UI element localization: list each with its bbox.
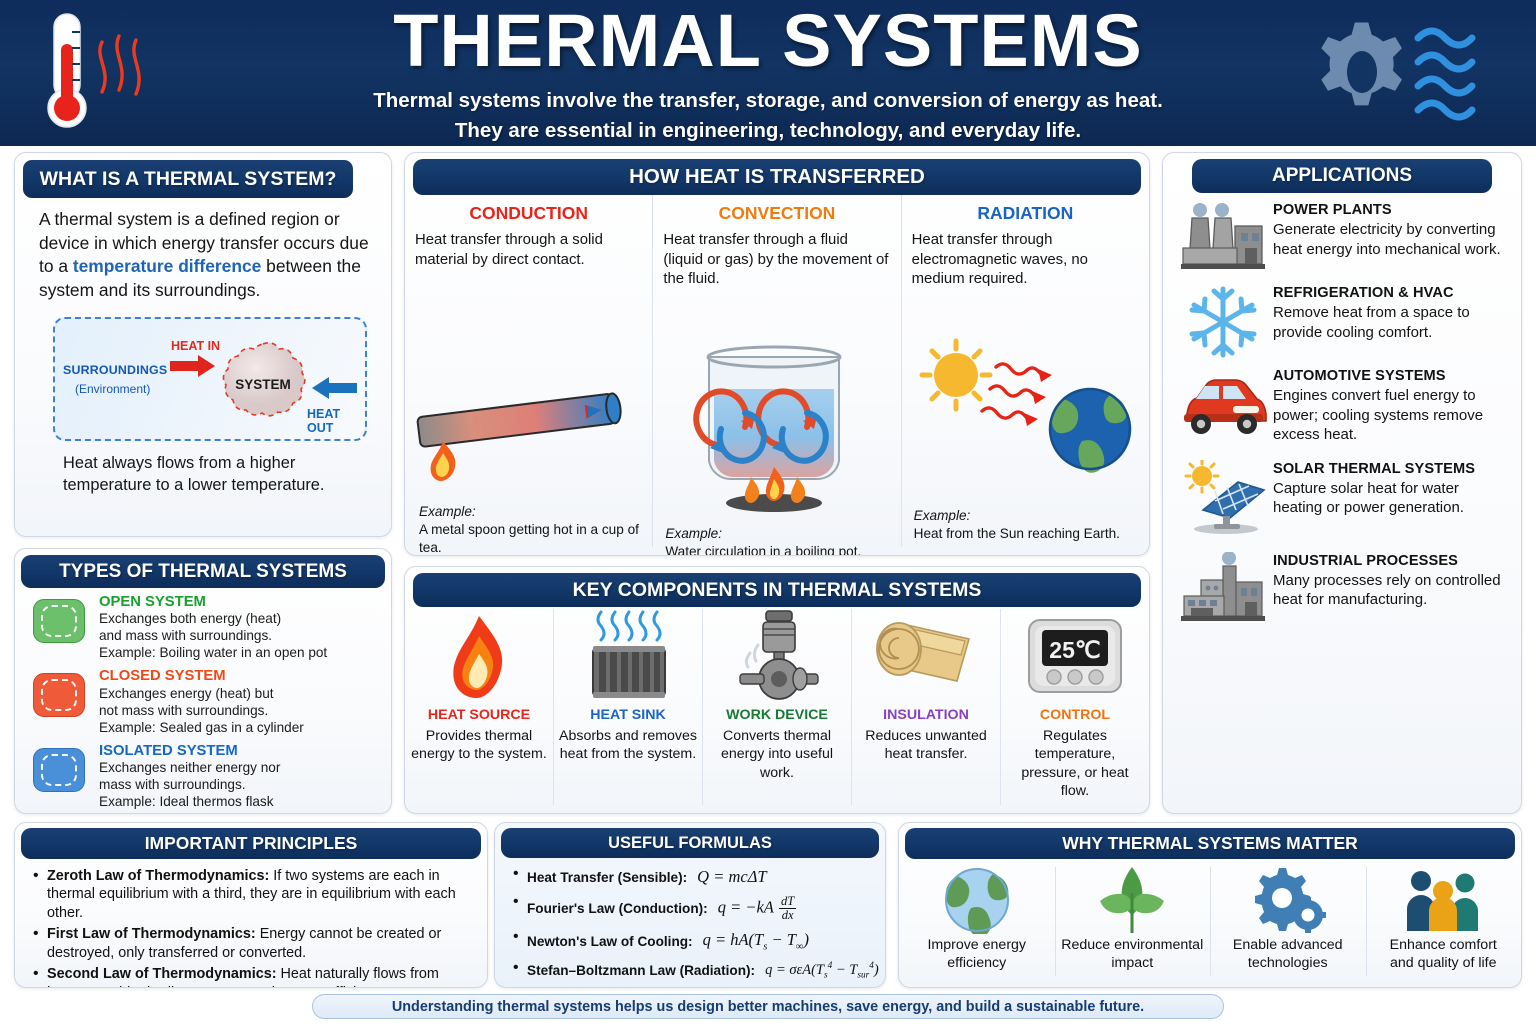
panel-key-components: KEY COMPONENTS IN THERMAL SYSTEMS HEAT S… — [404, 566, 1150, 814]
example-block: Example: Water circulation in a boiling … — [665, 525, 861, 556]
example-label: Example: — [419, 504, 476, 519]
list-item: AUTOMOTIVE SYSTEMS Engines convert fuel … — [1163, 359, 1521, 445]
benefit-improve-energy-efficiency: Improve energy efficiency — [899, 859, 1055, 984]
list-item: Newton's Law of Cooling: q = hA(Ts − T∞) — [509, 930, 877, 952]
diagram-label-heat-out: HEAT OUT — [307, 407, 365, 435]
application-name: SOLAR THERMAL SYSTEMS — [1273, 461, 1511, 477]
people-icon — [1366, 864, 1522, 936]
panel-useful-formulas: USEFUL FORMULAS Heat Transfer (Sensible)… — [494, 822, 886, 988]
header-subtitle-line1: Thermal systems involve the transfer, st… — [260, 86, 1276, 116]
thermostat-icon: 25℃ — [1006, 609, 1144, 705]
example-text: Heat from the Sun reaching Earth. — [914, 526, 1120, 541]
panel-heading: WHAT IS A THERMAL SYSTEM? — [23, 160, 353, 198]
panel-heading: APPLICATIONS — [1192, 159, 1492, 193]
example-text: Water circulation in a boiling pot. — [665, 544, 861, 556]
page-title: THERMAL SYSTEMS — [260, 4, 1276, 78]
key-component-desc: Converts thermal energy into useful work… — [708, 727, 846, 782]
panel-how-heat-is-transferred: HOW HEAT IS TRANSFERRED CONDUCTION Heat … — [404, 152, 1150, 556]
list-item: CLOSED SYSTEM Exchanges energy (heat) bu… — [15, 662, 391, 736]
key-component-desc: Reduces unwanted heat transfer. — [857, 727, 995, 764]
panel-what-is-a-thermal-system: WHAT IS A THERMAL SYSTEM? A thermal syst… — [14, 152, 392, 537]
benefit-label-line2: efficiency — [899, 954, 1055, 972]
application-desc: Capture solar heat for water heating or … — [1273, 479, 1511, 518]
heated-rod-with-flame-icon — [409, 391, 641, 483]
application-name: REFRIGERATION & HVAC — [1273, 285, 1511, 301]
column-title: RADIATION — [912, 203, 1139, 224]
list-item: POWER PLANTS Generate electricity by con… — [1163, 193, 1521, 276]
factory-icon — [1177, 553, 1269, 627]
header-banner: THERMAL SYSTEMS Thermal systems involve … — [0, 0, 1536, 146]
diagram-label-heat-in: HEAT IN — [171, 339, 220, 353]
panel-types-of-thermal-systems: TYPES OF THERMAL SYSTEMS OPEN SYSTEM Exc… — [14, 548, 392, 814]
sun-rays-earth-icon — [912, 337, 1138, 497]
closed-system-swatch-icon — [33, 673, 85, 717]
panel-heading: IMPORTANT PRINCIPLES — [21, 828, 481, 859]
thermostat-display: 25℃ — [1049, 637, 1100, 663]
list-item: Zeroth Law of Thermodynamics: If two sys… — [29, 867, 475, 922]
application-desc: Engines convert fuel energy to power; co… — [1273, 386, 1511, 445]
solar-panel-icon — [1177, 461, 1269, 535]
list-item: INDUSTRIAL PROCESSES Many processes rely… — [1163, 535, 1521, 627]
panel-heading: KEY COMPONENTS IN THERMAL SYSTEMS — [413, 573, 1141, 607]
header-right-icons — [1300, 12, 1500, 132]
column-desc: Heat transfer through a fluid (liquid or… — [663, 231, 890, 290]
diagram-label-system: SYSTEM — [215, 377, 311, 392]
panel-heading: USEFUL FORMULAS — [501, 828, 879, 858]
list-item: Stefan–Boltzmann Law (Radiation): q = σε… — [509, 961, 877, 981]
benefit-enable-advanced-technologies: Enable advanced technologies — [1210, 859, 1366, 984]
type-desc-line2: and mass with surroundings. — [99, 628, 327, 645]
radiator-icon — [559, 609, 697, 705]
sun-icon — [922, 341, 990, 409]
radiation-rays-icon — [982, 364, 1040, 418]
key-component-desc: Provides thermal energy to the system. — [410, 727, 548, 764]
benefit-label-line1: Enable advanced — [1210, 936, 1366, 954]
application-desc: Remove heat from a space to provide cool… — [1273, 303, 1511, 342]
key-component-name: HEAT SINK — [559, 707, 697, 723]
key-component-heat-sink: HEAT SINK Absorbs and removes heat from … — [553, 609, 702, 805]
key-component-insulation: INSULATION Reduces unwanted heat transfe… — [851, 609, 1000, 805]
formula-label: Heat Transfer (Sensible): — [527, 870, 687, 885]
benefit-label-line2: and quality of life — [1366, 954, 1522, 972]
type-name: ISOLATED SYSTEM — [99, 742, 280, 760]
infographic-page: THERMAL SYSTEMS Thermal systems involve … — [0, 0, 1536, 1024]
globe-icon — [899, 864, 1055, 936]
example-label: Example: — [914, 508, 971, 523]
formula-expression-fourier-law: q = −kA dTdx — [718, 895, 798, 922]
principle-law: Second Law of Thermodynamics: — [47, 966, 277, 982]
list-item: OPEN SYSTEM Exchanges both energy (heat)… — [15, 588, 391, 662]
header-subtitle-line2: They are essential in engineering, techn… — [260, 116, 1276, 146]
footer-text: Understanding thermal systems helps us d… — [392, 999, 1144, 1015]
benefit-label-line2: technologies — [1210, 954, 1366, 972]
type-desc-line3: Example: Sealed gas in a cylinder — [99, 720, 304, 737]
type-desc-line1: Exchanges both energy (heat) — [99, 611, 327, 628]
panel-applications: APPLICATIONS POWER PLANTS Generate elect… — [1162, 152, 1522, 814]
diagram-label-environment: (Environment) — [75, 382, 150, 396]
formula-label: Fourier's Law (Conduction): — [527, 901, 708, 916]
what-is-paragraph: A thermal system is a defined region or … — [39, 208, 375, 303]
key-component-name: WORK DEVICE — [708, 707, 846, 723]
column-title: CONDUCTION — [415, 203, 642, 224]
type-desc-line3: Example: Ideal thermos flask — [99, 794, 280, 811]
benefit-enhance-comfort: Enhance comfort and quality of life — [1366, 859, 1522, 984]
key-component-desc: Absorbs and removes heat from the system… — [559, 727, 697, 764]
key-component-name: CONTROL — [1006, 707, 1144, 723]
leaf-icon — [1055, 864, 1211, 936]
panel-heading: WHY THERMAL SYSTEMS MATTER — [905, 828, 1515, 859]
principle-law: Zeroth Law of Thermodynamics: — [47, 868, 269, 884]
piston-icon — [708, 609, 846, 705]
type-desc-line3: Example: Boiling water in an open pot — [99, 645, 327, 662]
panel-why-thermal-systems-matter: WHY THERMAL SYSTEMS MATTER Improve energ… — [898, 822, 1522, 988]
column-desc: Heat transfer through a solid material b… — [415, 231, 642, 270]
benefit-label-line1: Reduce environmental — [1055, 936, 1211, 954]
application-name: INDUSTRIAL PROCESSES — [1273, 553, 1511, 569]
application-desc: Generate electricity by converting heat … — [1273, 220, 1511, 259]
key-component-work-device: WORK DEVICE Converts thermal energy into… — [702, 609, 851, 805]
column-convection: CONVECTION Heat transfer through a fluid… — [652, 195, 900, 547]
application-name: AUTOMOTIVE SYSTEMS — [1273, 368, 1511, 384]
heat-in-arrow-icon — [170, 355, 216, 377]
car-icon — [1177, 368, 1269, 442]
application-desc: Many processes rely on controlled heat f… — [1273, 571, 1511, 610]
type-name: OPEN SYSTEM — [99, 593, 327, 611]
benefit-label-line1: Enhance comfort — [1366, 936, 1522, 954]
list-item: REFRIGERATION & HVAC Remove heat from a … — [1163, 276, 1521, 359]
list-item: Second Law of Thermodynamics: Heat natur… — [29, 965, 475, 988]
type-desc-line2: mass with surroundings. — [99, 777, 280, 794]
type-desc-line2: not mass with surroundings. — [99, 703, 304, 720]
column-desc: Heat transfer through electromagnetic wa… — [912, 231, 1139, 290]
system-surroundings-diagram: SURROUNDINGS (Environment) HEAT IN HEAT … — [53, 317, 367, 441]
key-component-name: INSULATION — [857, 707, 995, 723]
example-block: Example: Heat from the Sun reaching Eart… — [914, 507, 1120, 543]
application-name: POWER PLANTS — [1273, 202, 1511, 218]
type-name: CLOSED SYSTEM — [99, 667, 304, 685]
list-item: First Law of Thermodynamics: Energy cann… — [29, 925, 475, 962]
type-desc-line1: Exchanges energy (heat) but — [99, 686, 304, 703]
key-component-name: HEAT SOURCE — [410, 707, 548, 723]
formula-label: Newton's Law of Cooling: — [527, 934, 693, 949]
benefit-label-line1: Improve energy — [899, 936, 1055, 954]
gears-icon — [1210, 864, 1366, 936]
boiling-pot-icon — [681, 335, 867, 517]
example-label: Example: — [665, 526, 722, 541]
footer-banner: Understanding thermal systems helps us d… — [312, 994, 1224, 1019]
formula-expression-newton-cooling: q = hA(Ts − T∞) — [703, 930, 809, 952]
heat-out-arrow-icon — [311, 377, 357, 399]
flame-icon — [431, 441, 456, 481]
heat-waves-icon — [1418, 31, 1472, 117]
panel-heading: TYPES OF THERMAL SYSTEMS — [21, 555, 385, 588]
list-item: Heat Transfer (Sensible): Q = mcΔT — [509, 867, 877, 887]
formula-label: Stefan–Boltzmann Law (Radiation): — [527, 963, 755, 978]
what-is-highlight: temperature difference — [73, 256, 261, 276]
column-radiation: RADIATION Heat transfer through electrom… — [901, 195, 1149, 547]
header-text-block: THERMAL SYSTEMS Thermal systems involve … — [260, 4, 1276, 145]
diagram-label-surroundings: SURROUNDINGS — [63, 363, 167, 377]
type-desc-line1: Exchanges neither energy nor — [99, 760, 280, 777]
panel-important-principles: IMPORTANT PRINCIPLES Zeroth Law of Therm… — [14, 822, 488, 988]
power-plant-icon — [1177, 202, 1269, 276]
list-item: SOLAR THERMAL SYSTEMS Capture solar heat… — [1163, 445, 1521, 535]
insulation-roll-icon — [857, 609, 995, 705]
column-conduction: CONDUCTION Heat transfer through a solid… — [405, 195, 652, 547]
isolated-system-swatch-icon — [33, 748, 85, 792]
what-is-body: A thermal system is a defined region or … — [15, 198, 391, 497]
principle-law: First Law of Thermodynamics: — [47, 926, 256, 942]
key-component-desc: Regulates temperature, pressure, or heat… — [1006, 727, 1144, 801]
earth-icon — [1050, 389, 1130, 473]
gear-icon — [1321, 22, 1402, 105]
panel-heading: HOW HEAT IS TRANSFERRED — [413, 159, 1141, 195]
flame-icon — [410, 609, 548, 705]
formula-expression-sensible-heat: Q = mcΔT — [697, 867, 766, 887]
example-block: Example: A metal spoon getting hot in a … — [419, 503, 652, 556]
list-item: ISOLATED SYSTEM Exchanges neither energy… — [15, 737, 391, 811]
what-is-footnote: Heat always flows from a higher temperat… — [39, 441, 375, 497]
snowflake-icon — [1177, 285, 1269, 359]
key-component-heat-source: HEAT SOURCE Provides thermal energy to t… — [405, 609, 553, 805]
benefit-label-line2: impact — [1055, 954, 1211, 972]
key-component-control: 25℃ CONTROL Regulates temperature, press… — [1000, 609, 1149, 805]
benefit-reduce-environmental-impact: Reduce environmental impact — [1055, 859, 1211, 984]
thermometer-icon — [40, 10, 200, 136]
column-title: CONVECTION — [663, 203, 890, 224]
formula-expression-stefan-boltzmann: q = σεA(Ts4 − Tsur4) — [765, 961, 879, 981]
list-item: Fourier's Law (Conduction): q = −kA dTdx — [509, 895, 877, 922]
sun-icon — [1186, 460, 1218, 492]
example-text: A metal spoon getting hot in a cup of te… — [419, 522, 639, 555]
open-system-swatch-icon — [33, 599, 85, 643]
